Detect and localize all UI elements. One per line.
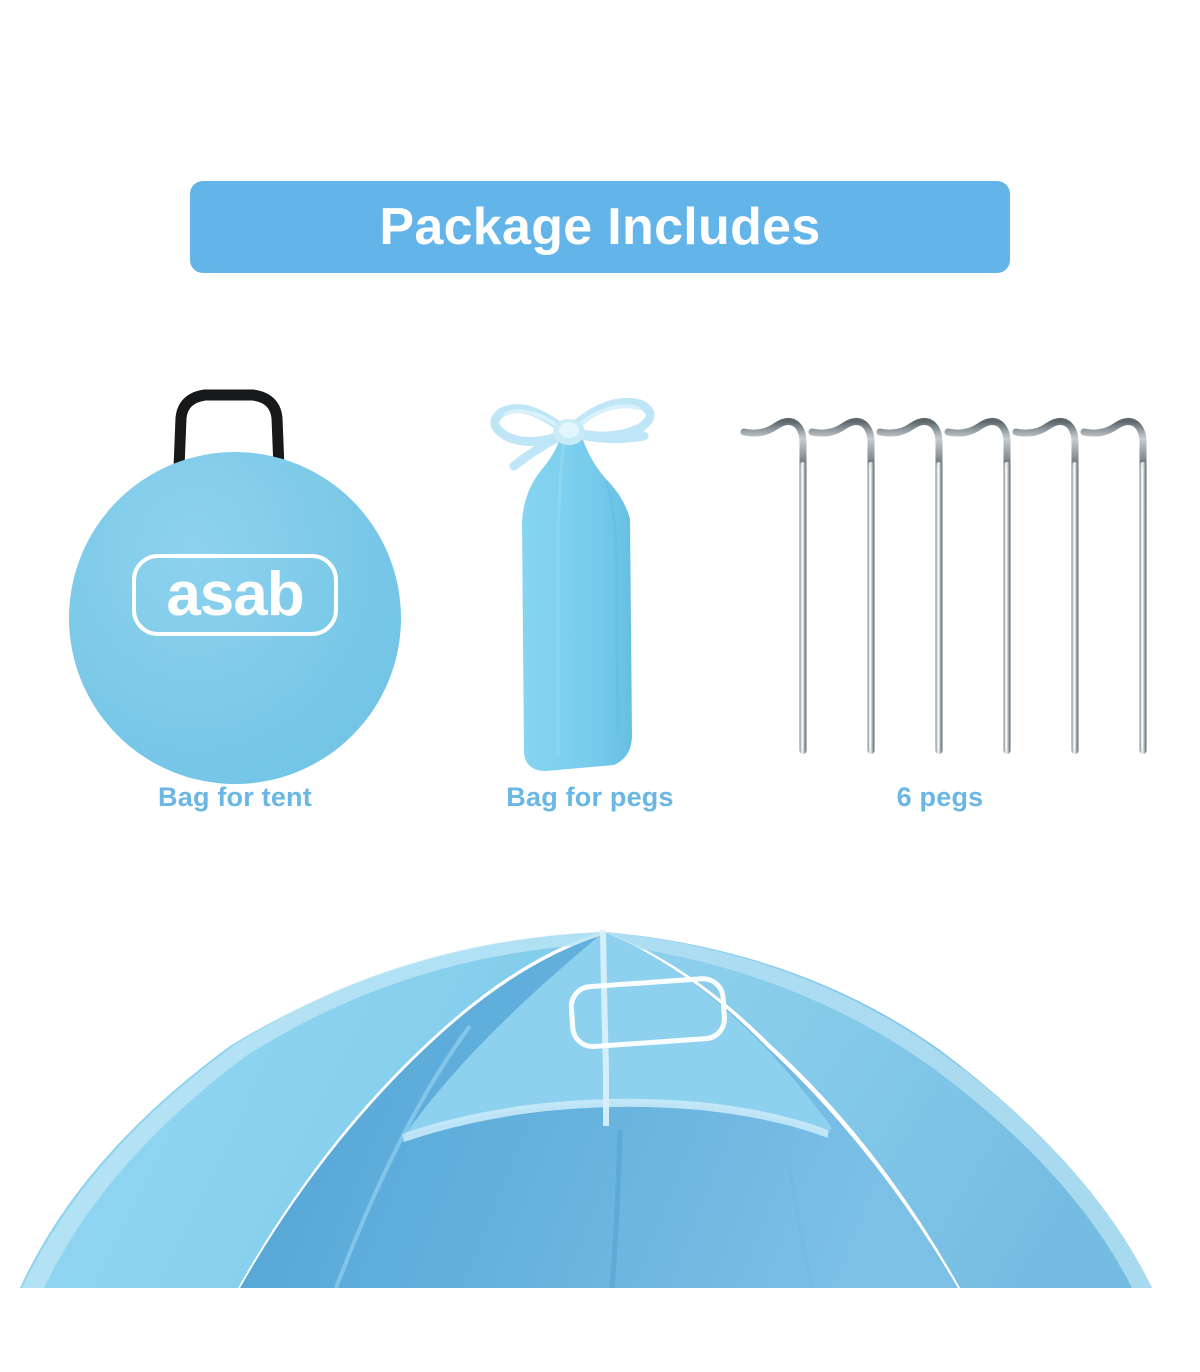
bag-for-pegs-label: Bag for pegs <box>460 782 720 813</box>
bag-for-tent-label: Bag for tent <box>55 782 415 813</box>
package-item-bag-for-tent: asab Bag for tent <box>55 380 415 850</box>
pegs-label: 6 pegs <box>740 782 1140 813</box>
tent-peg-1 <box>740 410 812 760</box>
asab-logo-text: asab <box>166 564 303 626</box>
drawstring-pouch-icon <box>502 435 652 775</box>
tent-peg-icon <box>1012 410 1084 760</box>
tent-illustration <box>0 920 1200 1288</box>
pegs-image <box>740 380 1140 780</box>
tent-peg-2 <box>808 410 880 760</box>
package-contents-row: asab Bag for tent <box>0 380 1200 850</box>
tent-peg-icon <box>808 410 880 760</box>
bag-for-pegs-image <box>460 380 720 780</box>
tent-peg-3 <box>876 410 948 760</box>
tent-peg-icon <box>1080 410 1152 760</box>
round-carry-bag-icon: asab <box>69 452 401 784</box>
page-title: Package Includes <box>379 201 820 253</box>
bag-for-tent-image: asab <box>55 380 415 780</box>
tent-peg-icon <box>944 410 1016 760</box>
tent-peg-4 <box>944 410 1016 760</box>
package-item-bag-for-pegs: Bag for pegs <box>460 380 720 850</box>
asab-logo: asab <box>132 554 338 636</box>
tent-peg-icon <box>740 410 812 760</box>
tent-peg-5 <box>1012 410 1084 760</box>
pop-up-beach-tent-photo: asab <box>0 920 1200 1288</box>
tent-peg-icon <box>876 410 948 760</box>
ribbon-bow-icon <box>468 384 688 474</box>
tent-peg-6 <box>1080 410 1152 760</box>
package-item-pegs: 6 pegs <box>740 380 1140 850</box>
page-title-banner: Package Includes <box>190 181 1010 273</box>
